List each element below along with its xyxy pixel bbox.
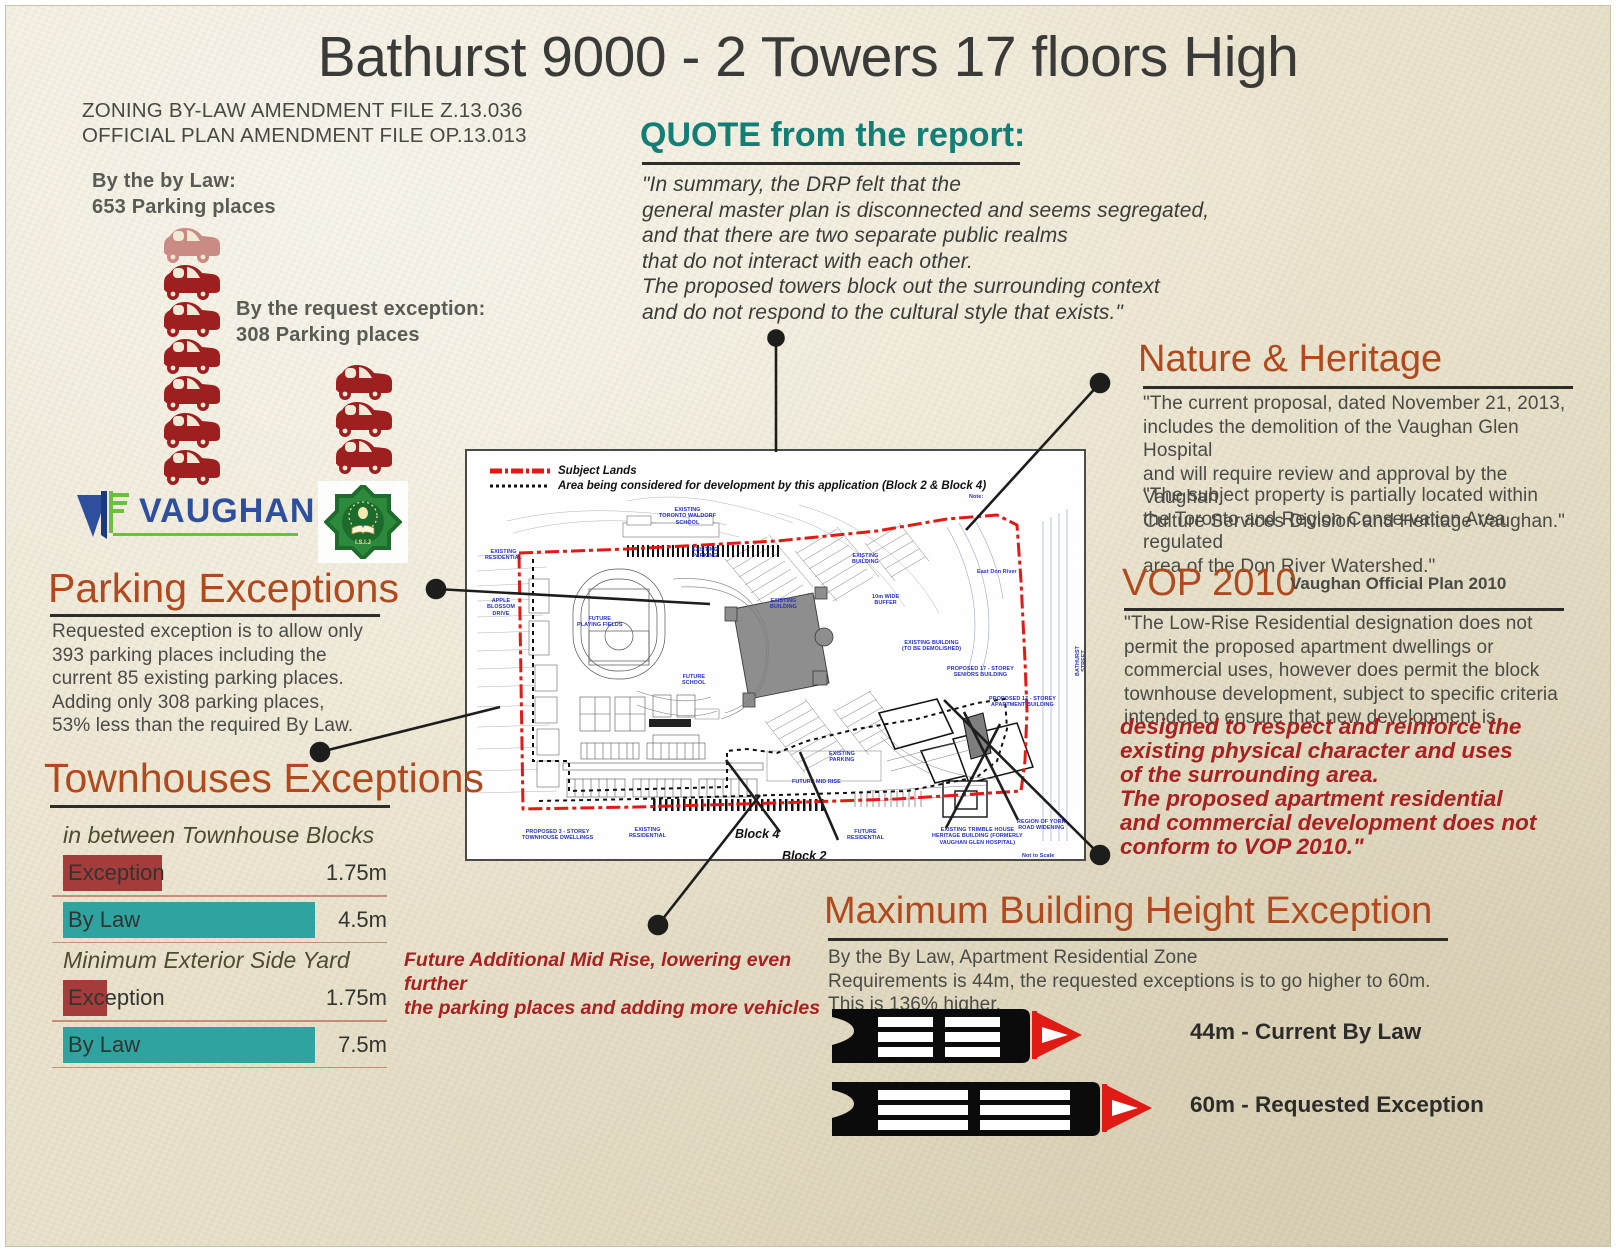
bar-separator [52, 942, 387, 944]
map-block-label: Block 4 [735, 827, 779, 841]
bylaw-parking-label-line2: 653 Parking places [92, 194, 276, 220]
map-label: EXISTING PARKING [829, 751, 855, 764]
bar-group-title: Minimum Exterior Side Yard [63, 947, 387, 974]
map-legend-label: Area being considered for development by… [558, 480, 986, 492]
bar-label: By Law [68, 1032, 140, 1058]
exception-car-column [330, 362, 392, 473]
car-icon [158, 410, 220, 450]
map-legend-item: Subject Lands [489, 465, 986, 477]
bar-separator [52, 1067, 387, 1069]
bar-label: Exception [68, 985, 165, 1011]
parking-exceptions-heading: Parking Exceptions [48, 565, 399, 612]
map-legend: Subject LandsArea being considered for d… [489, 465, 986, 495]
building-height-caption: 44m - Current By Law [1190, 1019, 1421, 1045]
map-label: EXISTING RESIDENTIAL [629, 827, 666, 840]
car-icon [158, 336, 220, 376]
map-block-label: Block 2 [782, 849, 826, 861]
quote-rule [642, 162, 1020, 165]
car-icon-wrap [158, 262, 220, 299]
exception-parking-label-line1: By the request exception: [236, 296, 486, 322]
map-drawing [477, 461, 1078, 853]
bylaw-parking-label: By the by Law: 653 Parking places [92, 168, 276, 220]
car-icon-wrap [330, 399, 392, 436]
bar-value: 1.75m [326, 985, 387, 1011]
bar-value: 1.75m [326, 860, 387, 886]
vop-rule [1124, 608, 1564, 611]
vop-subheading: Vaughan Official Plan 2010 [1290, 574, 1506, 594]
parking-exceptions-body: Requested exception is to allow only 393… [52, 620, 392, 738]
page-title: Bathurst 9000 - 2 Towers 17 floors High [0, 24, 1616, 90]
quote-text: "In summary, the DRP felt that the gener… [642, 172, 1282, 325]
official-plan-file-line: OFFICIAL PLAN AMENDMENT FILE OP.13.013 [82, 123, 527, 148]
parking-exceptions-rule [50, 614, 380, 617]
car-icon [330, 399, 392, 439]
vaughan-logo: VAUGHAN [73, 487, 298, 545]
map-legend-label: Subject Lands [558, 465, 637, 477]
exception-parking-label: By the request exception: 308 Parking pl… [236, 296, 486, 348]
map-label: 10m WIDE BUFFER [872, 594, 899, 607]
bar-separator [52, 895, 387, 897]
map-label: EXISTING RESIDENTIAL [485, 549, 522, 562]
vaughan-logo-underline [113, 533, 298, 536]
quote-heading: QUOTE from the report: [640, 116, 1025, 155]
skyscraper-icon [830, 1078, 1156, 1140]
map-label: FUTURE SCHOOL [682, 674, 706, 687]
map-label: EXISTING PARKING [692, 547, 718, 560]
building-height-row: 44m - Current By Law [830, 1005, 1156, 1072]
future-midrise-note: Future Additional Mid Rise, lowering eve… [404, 948, 824, 1020]
map-label: East Don River [977, 569, 1017, 575]
map-label: EXISTING BUILDING [770, 598, 797, 611]
townhouses-exceptions-heading: Townhouses Exceptions [44, 755, 484, 802]
bylaw-parking-label-line1: By the by Law: [92, 168, 276, 194]
car-icon-wrap [158, 373, 220, 410]
map-label: BATHURST STREET [1075, 646, 1086, 676]
map-label: REGION OF YORK ROAD WIDENING [1017, 819, 1066, 832]
site-plan-map-canvas: Subject LandsArea being considered for d… [477, 461, 1074, 849]
zoning-file-line: ZONING BY-LAW AMENDMENT FILE Z.13.036 [82, 98, 527, 123]
building-height-caption: 60m - Requested Exception [1190, 1092, 1484, 1118]
car-icon [330, 362, 392, 402]
car-icon-wrap [158, 299, 220, 336]
vop-heading: VOP 2010 [1122, 562, 1297, 605]
skyscraper-icon [830, 1005, 1086, 1067]
building-height-comparison: 44m - Current By Law60m - Requested Exce… [830, 1005, 1156, 1151]
bar-value: 4.5m [338, 907, 387, 933]
car-icon [158, 225, 220, 265]
map-label: PROPOSED 17 - STOREY APARTMENT BUILDING [989, 696, 1056, 709]
max-height-rule [828, 938, 1448, 941]
map-label: PROPOSED 3 - STOREY TOWNHOUSE DWELLINGS [522, 829, 593, 842]
bar-row: Exception1.75m [52, 853, 387, 893]
townhouses-exceptions-rule [50, 805, 390, 808]
nature-heritage-rule [1143, 386, 1573, 389]
map-legend-item: Area being considered for development by… [489, 480, 986, 492]
vaughan-logo-text: VAUGHAN [139, 492, 315, 531]
townhouse-bar-chart: in between Townhouse BlocksException1.75… [52, 818, 387, 1071]
bar-value: 7.5m [338, 1032, 387, 1058]
bylaw-car-column [158, 225, 220, 484]
legend-swatch-development-area [489, 481, 551, 491]
bar-row: Exception1.75m [52, 978, 387, 1018]
map-label: FUTURE PLAYING FIELDS [577, 616, 623, 629]
isij-logo: I.S.I.J [318, 481, 408, 563]
car-icon-wrap [158, 225, 220, 262]
bar-separator [52, 1020, 387, 1022]
svg-text:I.S.I.J: I.S.I.J [355, 540, 371, 546]
nature-heritage-heading: Nature & Heritage [1138, 338, 1442, 381]
car-icon [158, 373, 220, 413]
car-icon [158, 262, 220, 302]
isij-emblem-icon: I.S.I.J [324, 485, 402, 559]
infographic-poster: Bathurst 9000 - 2 Towers 17 floors High … [0, 0, 1616, 1252]
map-label: Not to Scale [1022, 853, 1054, 859]
exception-parking-label-line2: 308 Parking places [236, 322, 486, 348]
car-icon-wrap [330, 362, 392, 399]
building-height-row: 60m - Requested Exception [830, 1078, 1156, 1145]
bar-label: By Law [68, 907, 140, 933]
map-label: FUTURE RESIDENTIAL [847, 829, 884, 842]
car-icon-wrap [330, 436, 392, 473]
map-label: EXISTING BUILDING (TO BE DEMOLISHED) [902, 640, 961, 653]
bar-row: By Law7.5m [52, 1025, 387, 1065]
bar-row: By Law4.5m [52, 900, 387, 940]
car-icon [330, 436, 392, 476]
bar-label: Exception [68, 860, 165, 886]
map-label: EXISTING TORONTO WALDORF SCHOOL [659, 507, 716, 526]
vop-body: "The Low-Rise Residential designation do… [1124, 612, 1584, 730]
car-icon [158, 447, 220, 487]
map-label: EXISTING TRIMBLE HOUSE HERITAGE BUILDING… [932, 827, 1023, 846]
map-label: FUTURE MID RISE [792, 779, 841, 785]
file-reference-block: ZONING BY-LAW AMENDMENT FILE Z.13.036 OF… [82, 98, 527, 148]
vop-emphasis: designed to respect and reinforce the ex… [1120, 715, 1590, 859]
car-icon [158, 299, 220, 339]
site-plan-map[interactable]: Subject LandsArea being considered for d… [465, 449, 1086, 861]
legend-swatch-subject-lands [489, 466, 551, 476]
map-label: PROPOSED 17 - STOREY SENIORS BUILDING [947, 666, 1014, 679]
car-icon-wrap [158, 410, 220, 447]
car-icon-wrap [158, 336, 220, 373]
map-label: APPLE BLOSSOM DRIVE [487, 598, 515, 617]
max-height-heading: Maximum Building Height Exception [824, 890, 1432, 933]
map-label: EXISTING BUILDING [852, 553, 879, 566]
bar-group-title: in between Townhouse Blocks [63, 822, 387, 849]
car-icon-wrap [158, 447, 220, 484]
